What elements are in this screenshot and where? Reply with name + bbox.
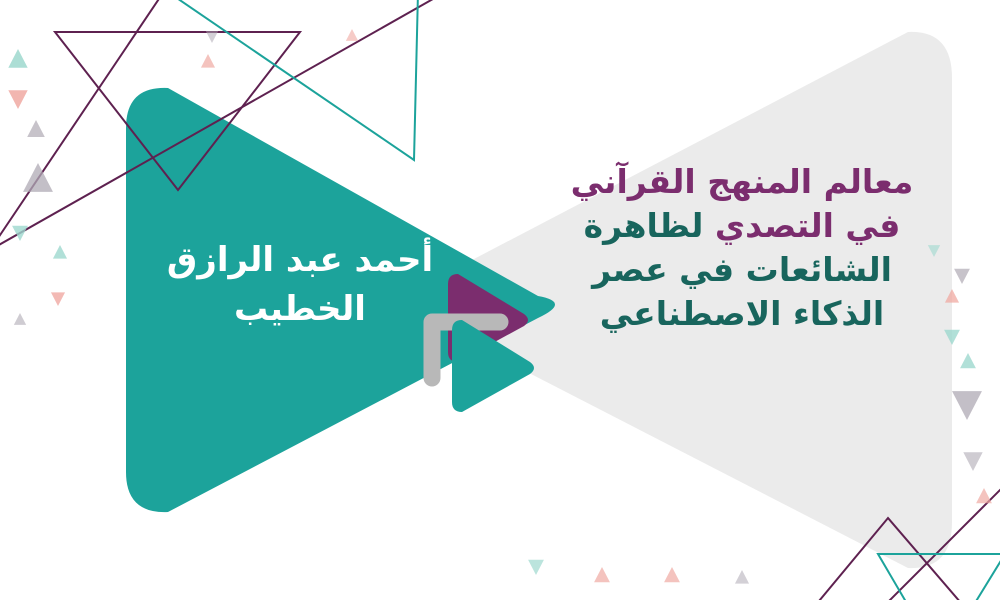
poster-canvas: معالم المنهج القرآني في التصدي لظاهرة ال… xyxy=(0,0,1000,600)
three-triangle-play-logo xyxy=(0,0,1000,600)
